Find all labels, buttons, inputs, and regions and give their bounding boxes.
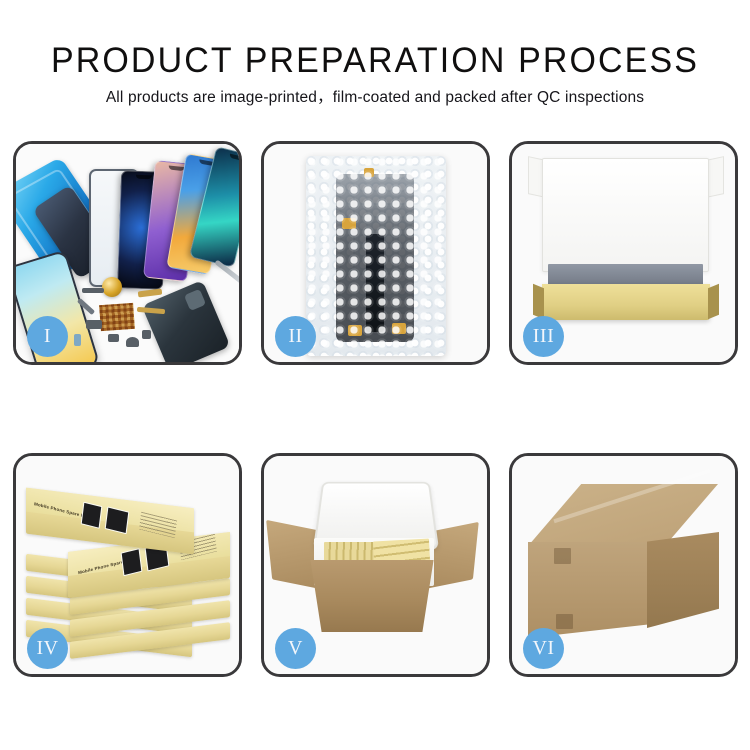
sim-tray-icon <box>74 334 81 346</box>
component-chip-icon <box>142 330 151 339</box>
white-box-lid-icon <box>542 158 709 272</box>
component-chip-icon <box>108 334 119 342</box>
speaker-coil-icon <box>102 277 122 297</box>
component-chip-icon <box>86 320 102 329</box>
wrapped-part-icon <box>336 174 414 342</box>
process-step-panel-5[interactable]: V <box>261 453 490 677</box>
sealed-carton-side-icon <box>647 532 719 628</box>
sealed-carton-front-icon <box>528 542 648 638</box>
process-step-panel-1[interactable]: I <box>13 141 242 365</box>
process-step-panel-6[interactable]: VI <box>509 453 738 677</box>
step-badge-1: I <box>27 316 68 357</box>
process-step-panel-3[interactable]: III <box>509 141 738 365</box>
step-badge-5: V <box>275 628 316 669</box>
step-badge-2: II <box>275 316 316 357</box>
process-step-panel-2[interactable]: II <box>261 141 490 365</box>
yellow-box-base-icon <box>542 284 710 320</box>
step-badge-3: III <box>523 316 564 357</box>
carton-handle-tab-icon <box>556 614 573 629</box>
page-header: PRODUCT PREPARATION PROCESS All products… <box>0 0 750 107</box>
process-step-panel-4[interactable]: Mobile Phone Spare Parts Mobile Phone Sp… <box>13 453 242 677</box>
process-step-grid: I II III <box>13 141 737 677</box>
component-chip-icon <box>82 288 104 293</box>
page-title: PRODUCT PREPARATION PROCESS <box>11 0 739 80</box>
carton-handle-tab-icon <box>554 548 571 564</box>
vibration-motor-icon <box>126 337 139 347</box>
page-subtitle: All products are image-printed，film-coat… <box>0 80 750 107</box>
step-badge-6: VI <box>523 628 564 669</box>
screw-tray-icon <box>99 303 135 331</box>
printed-box-top: Mobile Phone Spare Parts <box>26 488 194 555</box>
step-badge-4: IV <box>27 628 68 669</box>
carton-body-icon <box>302 560 442 632</box>
